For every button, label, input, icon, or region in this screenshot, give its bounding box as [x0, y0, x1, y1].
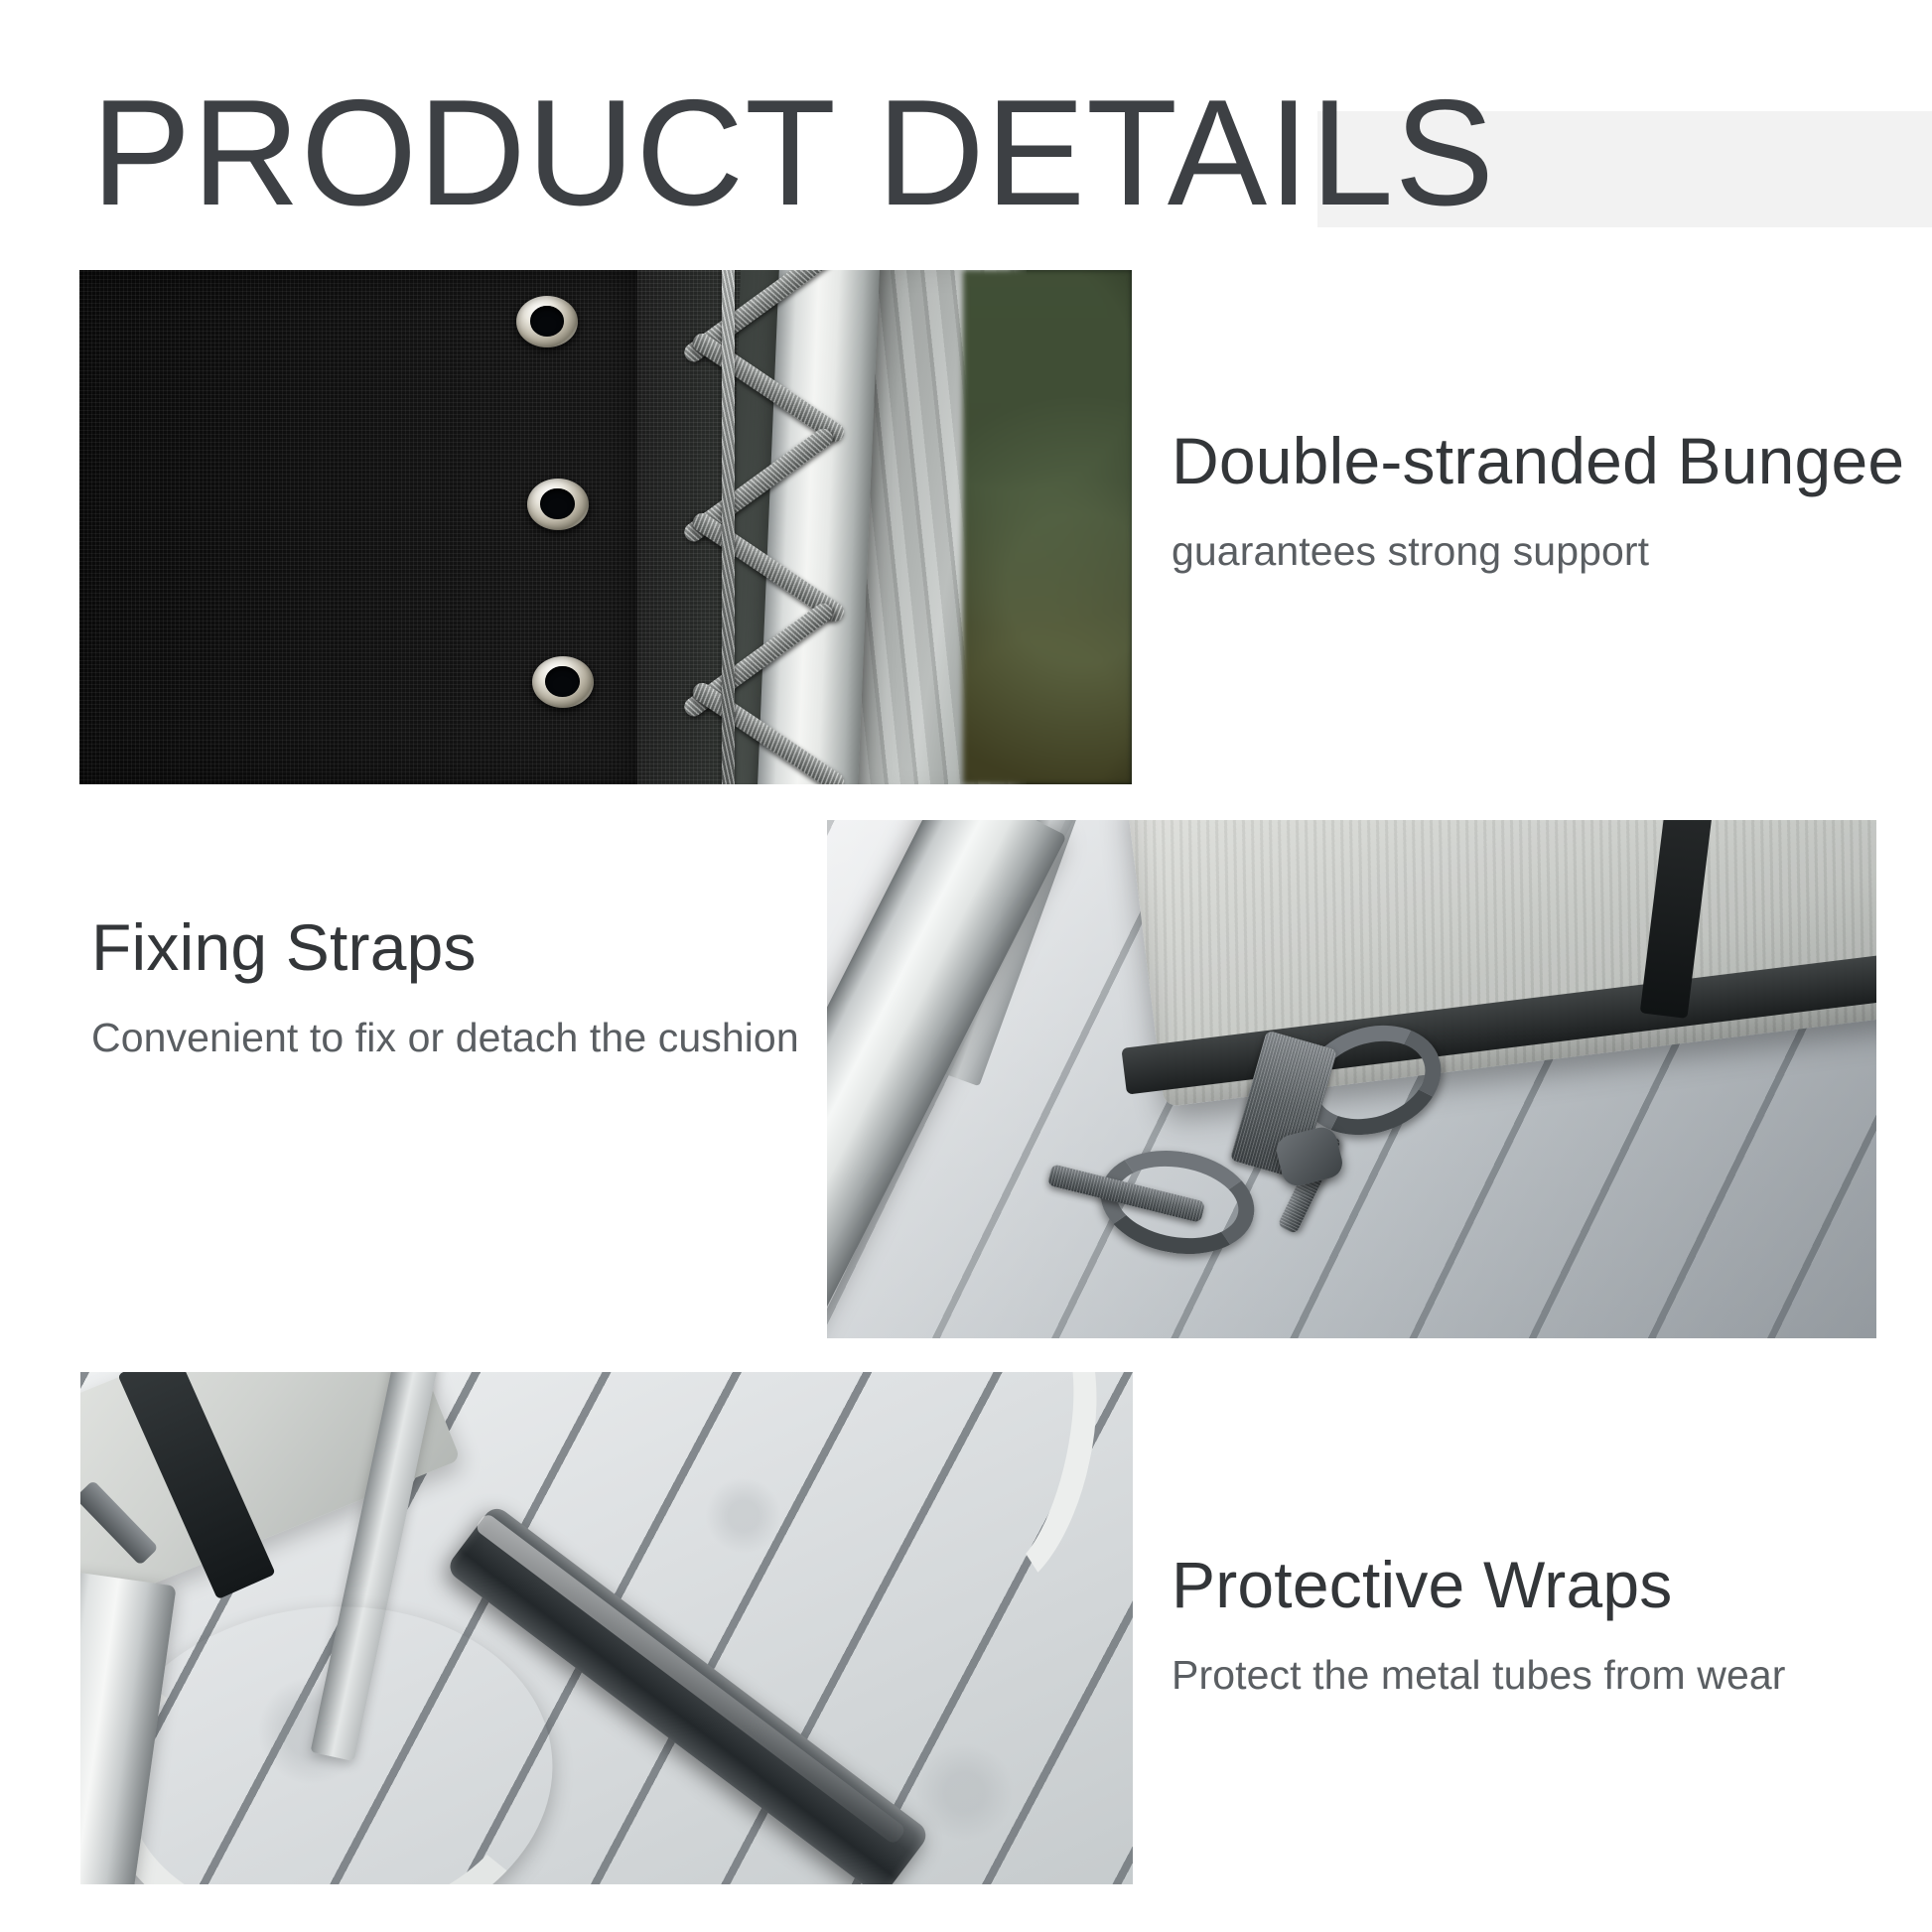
metal-grommet: [532, 656, 594, 708]
feature-text-fixing-straps: Fixing Straps Convenient to fix or detac…: [91, 913, 799, 1062]
infographic-page: PRODUCT DETAILS Double-stranded Bungee g…: [0, 0, 1932, 1932]
feature-heading: Protective Wraps: [1172, 1551, 1786, 1619]
feature-photo-double-stranded-bungee: [79, 270, 1132, 784]
feature-subtext: Convenient to fix or detach the cushion: [91, 1014, 799, 1062]
bungee-cord-return: [722, 270, 735, 784]
feature-photo-fixing-straps: [827, 820, 1876, 1338]
page-title: PRODUCT DETAILS: [91, 77, 1495, 228]
feature-text-protective-wraps: Protective Wraps Protect the metal tubes…: [1172, 1551, 1786, 1700]
feature-photo-protective-wraps: [80, 1372, 1133, 1884]
feature-subtext: guarantees strong support: [1172, 527, 1904, 576]
feature-text-double-stranded-bungee: Double-stranded Bungee guarantees strong…: [1172, 427, 1904, 576]
feature-heading: Double-stranded Bungee: [1172, 427, 1904, 495]
feature-heading: Fixing Straps: [91, 913, 799, 982]
feature-subtext: Protect the metal tubes from wear: [1172, 1651, 1786, 1700]
blurred-foliage-background: [963, 270, 1132, 784]
metal-grommet: [516, 296, 578, 347]
metal-grommet: [527, 479, 589, 530]
